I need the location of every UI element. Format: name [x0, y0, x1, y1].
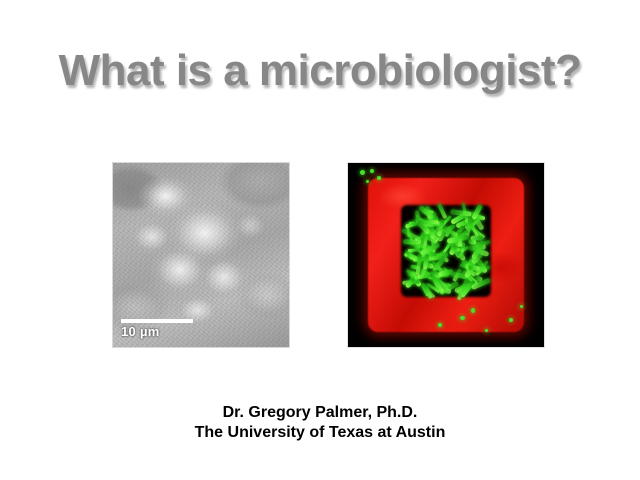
scale-bar-line: [121, 319, 193, 323]
confocal-micrograph-image: [347, 162, 545, 348]
author-affiliation: The University of Texas at Austin: [0, 423, 640, 443]
author-name: Dr. Gregory Palmer, Ph.D.: [0, 403, 640, 423]
author-block: Dr. Gregory Palmer, Ph.D. The University…: [0, 403, 640, 443]
scale-bar: 10 µm: [121, 319, 197, 339]
scale-bar-label: 10 µm: [121, 324, 197, 339]
figure-row: 10 µm: [0, 162, 640, 350]
confocal-outer-specks: [348, 163, 544, 347]
sem-micrograph-image: 10 µm: [112, 162, 290, 348]
page-title: What is a microbiologist?: [0, 46, 640, 96]
presentation-slide: What is a microbiologist? 10 µm: [0, 0, 640, 480]
